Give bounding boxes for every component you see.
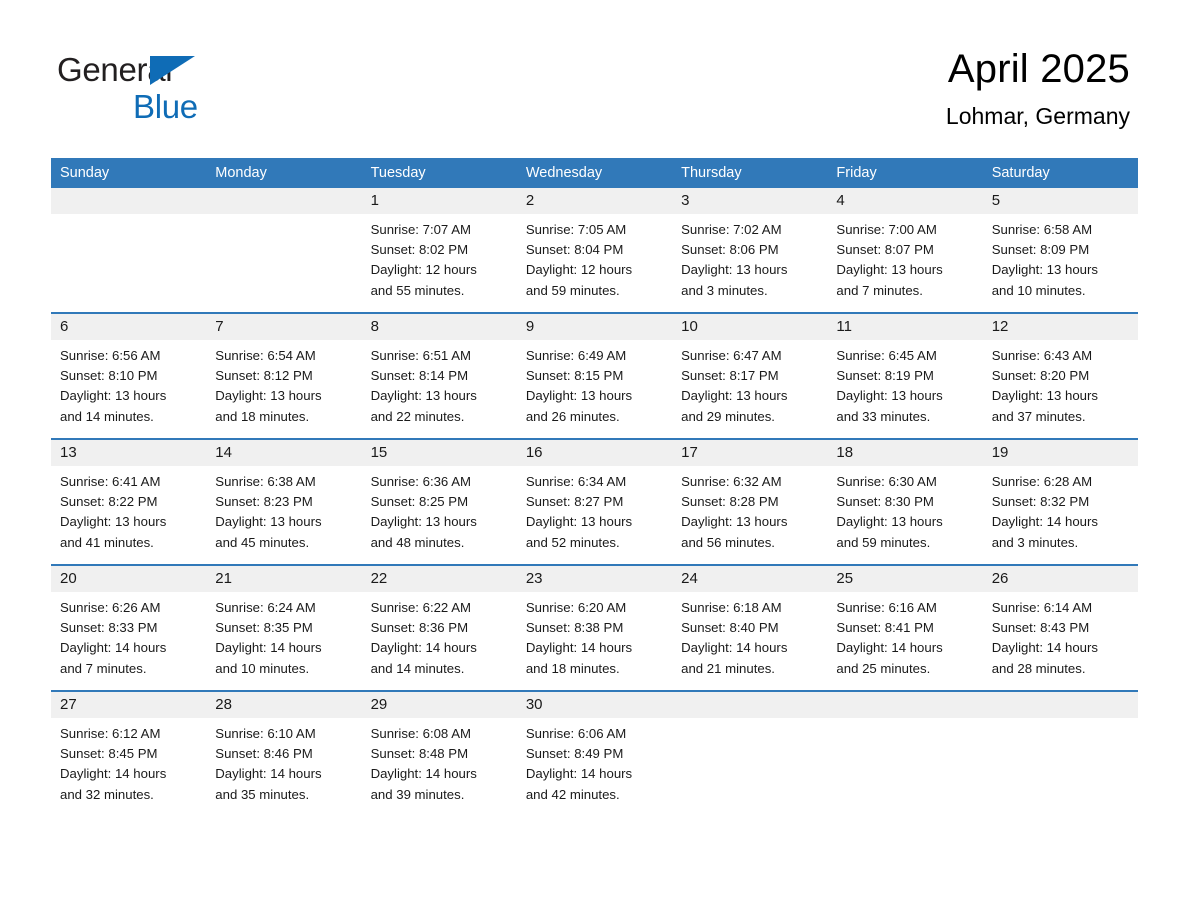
day-detail-line: Sunrise: 7:07 AM [371,220,508,240]
day-detail-line: Daylight: 13 hours [681,512,818,532]
day-detail-line: and 18 minutes. [215,407,352,427]
week-cells: 27Sunrise: 6:12 AMSunset: 8:45 PMDayligh… [51,692,1138,816]
day-details [51,214,206,312]
day-cell-10[interactable]: 10Sunrise: 6:47 AMSunset: 8:17 PMDayligh… [672,314,827,438]
day-details: Sunrise: 6:30 AMSunset: 8:30 PMDaylight:… [827,466,982,564]
day-details: Sunrise: 6:06 AMSunset: 8:49 PMDaylight:… [517,718,672,816]
day-number: 14 [206,440,361,466]
day-number-band: 10 [672,314,827,340]
day-number-band: 19 [983,440,1138,466]
week-cells: 13Sunrise: 6:41 AMSunset: 8:22 PMDayligh… [51,440,1138,564]
day-detail-line: Sunset: 8:12 PM [215,366,352,386]
day-detail-line: and 45 minutes. [215,533,352,553]
day-detail-line: Daylight: 14 hours [215,638,352,658]
day-number-band [51,188,206,214]
day-number-band: 8 [362,314,517,340]
day-cell-6[interactable]: 6Sunrise: 6:56 AMSunset: 8:10 PMDaylight… [51,314,206,438]
day-cell-18[interactable]: 18Sunrise: 6:30 AMSunset: 8:30 PMDayligh… [827,440,982,564]
day-number: 29 [362,692,517,718]
day-detail-line: Sunrise: 6:12 AM [60,724,197,744]
day-detail-line: and 26 minutes. [526,407,663,427]
weekday-header-monday: Monday [206,158,361,188]
day-cell-27[interactable]: 27Sunrise: 6:12 AMSunset: 8:45 PMDayligh… [51,692,206,816]
day-detail-line: Sunrise: 6:08 AM [371,724,508,744]
day-cell-28[interactable]: 28Sunrise: 6:10 AMSunset: 8:46 PMDayligh… [206,692,361,816]
day-detail-line: Sunset: 8:10 PM [60,366,197,386]
day-detail-line: Daylight: 13 hours [60,512,197,532]
day-detail-line: Sunset: 8:45 PM [60,744,197,764]
day-detail-line: Sunrise: 6:28 AM [992,472,1129,492]
day-number: 30 [517,692,672,718]
day-number-band [827,692,982,718]
day-number-band: 11 [827,314,982,340]
day-detail-line: and 7 minutes. [836,281,973,301]
day-number-band: 16 [517,440,672,466]
day-number: 20 [51,566,206,592]
day-detail-line: Sunrise: 6:18 AM [681,598,818,618]
day-detail-line: Daylight: 13 hours [215,386,352,406]
day-detail-line: Daylight: 12 hours [371,260,508,280]
day-details [983,718,1138,816]
day-number-band: 25 [827,566,982,592]
page-header: General Blue April 2025 Lohmar, Germany [0,0,1188,150]
day-detail-line: and 25 minutes. [836,659,973,679]
day-number-band: 3 [672,188,827,214]
day-detail-line: and 59 minutes. [836,533,973,553]
day-number: 13 [51,440,206,466]
day-detail-line: Sunset: 8:14 PM [371,366,508,386]
day-details: Sunrise: 6:36 AMSunset: 8:25 PMDaylight:… [362,466,517,564]
day-detail-line: Daylight: 14 hours [526,638,663,658]
day-detail-line: Daylight: 13 hours [836,512,973,532]
day-detail-line: Sunset: 8:27 PM [526,492,663,512]
day-details: Sunrise: 6:38 AMSunset: 8:23 PMDaylight:… [206,466,361,564]
day-details: Sunrise: 6:08 AMSunset: 8:48 PMDaylight:… [362,718,517,816]
day-detail-line: Daylight: 13 hours [215,512,352,532]
day-number: 28 [206,692,361,718]
day-cell-11[interactable]: 11Sunrise: 6:45 AMSunset: 8:19 PMDayligh… [827,314,982,438]
day-detail-line: Sunrise: 7:02 AM [681,220,818,240]
day-number: 1 [362,188,517,214]
day-details: Sunrise: 6:32 AMSunset: 8:28 PMDaylight:… [672,466,827,564]
weekday-header-wednesday: Wednesday [517,158,672,188]
day-number-band: 22 [362,566,517,592]
day-details: Sunrise: 7:07 AMSunset: 8:02 PMDaylight:… [362,214,517,312]
day-detail-line: Sunset: 8:02 PM [371,240,508,260]
day-cell-3[interactable]: 3Sunrise: 7:02 AMSunset: 8:06 PMDaylight… [672,188,827,312]
day-detail-line: Daylight: 13 hours [371,512,508,532]
day-details: Sunrise: 6:58 AMSunset: 8:09 PMDaylight:… [983,214,1138,312]
day-detail-line: Sunrise: 6:47 AM [681,346,818,366]
day-detail-line: Sunrise: 7:05 AM [526,220,663,240]
day-detail-line: and 22 minutes. [371,407,508,427]
day-detail-line: Sunrise: 6:14 AM [992,598,1129,618]
day-number-band: 30 [517,692,672,718]
day-detail-line: and 42 minutes. [526,785,663,805]
day-detail-line: Sunset: 8:48 PM [371,744,508,764]
day-detail-line: Daylight: 14 hours [836,638,973,658]
week-cells: 1Sunrise: 7:07 AMSunset: 8:02 PMDaylight… [51,188,1138,312]
day-detail-line: Daylight: 14 hours [992,638,1129,658]
day-number: 15 [362,440,517,466]
day-cell-17[interactable]: 17Sunrise: 6:32 AMSunset: 8:28 PMDayligh… [672,440,827,564]
day-cell-1[interactable]: 1Sunrise: 7:07 AMSunset: 8:02 PMDaylight… [362,188,517,312]
day-detail-line: Sunset: 8:41 PM [836,618,973,638]
calendar-week-row: 13Sunrise: 6:41 AMSunset: 8:22 PMDayligh… [51,438,1138,564]
day-detail-line: Sunrise: 6:22 AM [371,598,508,618]
day-cell-19[interactable]: 19Sunrise: 6:28 AMSunset: 8:32 PMDayligh… [983,440,1138,564]
day-detail-line: and 14 minutes. [60,407,197,427]
day-detail-line: Daylight: 13 hours [526,512,663,532]
day-detail-line: and 33 minutes. [836,407,973,427]
day-cell-13[interactable]: 13Sunrise: 6:41 AMSunset: 8:22 PMDayligh… [51,440,206,564]
day-detail-line: and 48 minutes. [371,533,508,553]
day-number-band [983,692,1138,718]
day-details: Sunrise: 6:51 AMSunset: 8:14 PMDaylight:… [362,340,517,438]
day-number: 18 [827,440,982,466]
day-detail-line: Sunrise: 6:43 AM [992,346,1129,366]
day-number: 19 [983,440,1138,466]
day-detail-line: Sunset: 8:07 PM [836,240,973,260]
day-detail-line: Sunrise: 6:45 AM [836,346,973,366]
weekday-header-thursday: Thursday [672,158,827,188]
day-details [672,718,827,816]
day-detail-line: Daylight: 13 hours [992,386,1129,406]
day-detail-line: and 14 minutes. [371,659,508,679]
day-detail-line: and 29 minutes. [681,407,818,427]
day-number-band: 2 [517,188,672,214]
day-details: Sunrise: 7:00 AMSunset: 8:07 PMDaylight:… [827,214,982,312]
brand-name-blue: Blue [133,87,198,127]
day-detail-line: Sunset: 8:15 PM [526,366,663,386]
day-cell-empty [206,188,361,312]
day-detail-line: Sunset: 8:36 PM [371,618,508,638]
day-number-band: 18 [827,440,982,466]
day-detail-line: and 32 minutes. [60,785,197,805]
day-detail-line: Sunrise: 6:38 AM [215,472,352,492]
day-cell-20[interactable]: 20Sunrise: 6:26 AMSunset: 8:33 PMDayligh… [51,566,206,690]
day-number-band [206,188,361,214]
day-detail-line: Daylight: 13 hours [992,260,1129,280]
day-cell-7[interactable]: 7Sunrise: 6:54 AMSunset: 8:12 PMDaylight… [206,314,361,438]
day-details: Sunrise: 7:02 AMSunset: 8:06 PMDaylight:… [672,214,827,312]
day-number-band: 29 [362,692,517,718]
calendar-week-row: 6Sunrise: 6:56 AMSunset: 8:10 PMDaylight… [51,312,1138,438]
day-detail-line: Sunset: 8:25 PM [371,492,508,512]
day-cell-empty [983,692,1138,816]
day-detail-line: Sunset: 8:06 PM [681,240,818,260]
day-cell-9[interactable]: 9Sunrise: 6:49 AMSunset: 8:15 PMDaylight… [517,314,672,438]
day-detail-line: Sunset: 8:30 PM [836,492,973,512]
day-detail-line: Sunrise: 6:54 AM [215,346,352,366]
day-detail-line: Sunset: 8:32 PM [992,492,1129,512]
day-number: 2 [517,188,672,214]
calendar-page: General Blue April 2025 Lohmar, Germany … [0,0,1188,918]
calendar-week-row: 20Sunrise: 6:26 AMSunset: 8:33 PMDayligh… [51,564,1138,690]
day-detail-line: and 56 minutes. [681,533,818,553]
weekday-header-saturday: Saturday [983,158,1138,188]
day-details: Sunrise: 6:24 AMSunset: 8:35 PMDaylight:… [206,592,361,690]
day-cell-25[interactable]: 25Sunrise: 6:16 AMSunset: 8:41 PMDayligh… [827,566,982,690]
day-details: Sunrise: 6:16 AMSunset: 8:41 PMDaylight:… [827,592,982,690]
day-detail-line: Sunrise: 6:06 AM [526,724,663,744]
calendar-grid: SundayMondayTuesdayWednesdayThursdayFrid… [51,158,1138,816]
day-detail-line: Sunset: 8:17 PM [681,366,818,386]
day-number-band: 13 [51,440,206,466]
day-number: 10 [672,314,827,340]
day-detail-line: and 55 minutes. [371,281,508,301]
day-number: 4 [827,188,982,214]
day-details: Sunrise: 6:10 AMSunset: 8:46 PMDaylight:… [206,718,361,816]
day-number-band: 17 [672,440,827,466]
day-details: Sunrise: 6:49 AMSunset: 8:15 PMDaylight:… [517,340,672,438]
day-detail-line: Sunset: 8:22 PM [60,492,197,512]
day-number: 12 [983,314,1138,340]
day-number-band: 6 [51,314,206,340]
day-detail-line: and 3 minutes. [992,533,1129,553]
day-cell-23[interactable]: 23Sunrise: 6:20 AMSunset: 8:38 PMDayligh… [517,566,672,690]
day-detail-line: and 37 minutes. [992,407,1129,427]
day-detail-line: Sunrise: 6:49 AM [526,346,663,366]
day-detail-line: Daylight: 13 hours [60,386,197,406]
day-cell-30[interactable]: 30Sunrise: 6:06 AMSunset: 8:49 PMDayligh… [517,692,672,816]
day-detail-line: Daylight: 14 hours [371,764,508,784]
day-number-band: 27 [51,692,206,718]
day-detail-line: Daylight: 13 hours [836,260,973,280]
day-detail-line: Sunrise: 6:34 AM [526,472,663,492]
day-detail-line: Daylight: 13 hours [681,260,818,280]
triangle-icon [150,56,195,85]
day-details: Sunrise: 6:26 AMSunset: 8:33 PMDaylight:… [51,592,206,690]
title-block: April 2025 Lohmar, Germany [946,44,1130,132]
day-number-band: 9 [517,314,672,340]
day-details [827,718,982,816]
day-cell-12[interactable]: 12Sunrise: 6:43 AMSunset: 8:20 PMDayligh… [983,314,1138,438]
day-detail-line: Daylight: 14 hours [681,638,818,658]
day-detail-line: Daylight: 13 hours [371,386,508,406]
day-cell-29[interactable]: 29Sunrise: 6:08 AMSunset: 8:48 PMDayligh… [362,692,517,816]
day-detail-line: and 39 minutes. [371,785,508,805]
day-number: 5 [983,188,1138,214]
day-details: Sunrise: 6:54 AMSunset: 8:12 PMDaylight:… [206,340,361,438]
day-number-band: 7 [206,314,361,340]
day-number-band: 20 [51,566,206,592]
day-detail-line: and 3 minutes. [681,281,818,301]
day-detail-line: Daylight: 13 hours [836,386,973,406]
day-details: Sunrise: 6:56 AMSunset: 8:10 PMDaylight:… [51,340,206,438]
day-number: 7 [206,314,361,340]
day-details: Sunrise: 6:47 AMSunset: 8:17 PMDaylight:… [672,340,827,438]
day-detail-line: Sunrise: 6:32 AM [681,472,818,492]
day-detail-line: Daylight: 12 hours [526,260,663,280]
day-number: 6 [51,314,206,340]
day-number: 3 [672,188,827,214]
day-detail-line: Sunrise: 6:41 AM [60,472,197,492]
day-detail-line: and 28 minutes. [992,659,1129,679]
day-detail-line: Sunset: 8:19 PM [836,366,973,386]
day-cell-14[interactable]: 14Sunrise: 6:38 AMSunset: 8:23 PMDayligh… [206,440,361,564]
day-detail-line: Sunrise: 6:30 AM [836,472,973,492]
day-number: 8 [362,314,517,340]
week-cells: 6Sunrise: 6:56 AMSunset: 8:10 PMDaylight… [51,314,1138,438]
day-cell-21[interactable]: 21Sunrise: 6:24 AMSunset: 8:35 PMDayligh… [206,566,361,690]
day-detail-line: Sunset: 8:40 PM [681,618,818,638]
day-detail-line: Sunset: 8:04 PM [526,240,663,260]
day-detail-line: Sunset: 8:49 PM [526,744,663,764]
day-number-band: 15 [362,440,517,466]
day-detail-line: and 7 minutes. [60,659,197,679]
day-detail-line: and 21 minutes. [681,659,818,679]
weekday-header-row: SundayMondayTuesdayWednesdayThursdayFrid… [51,158,1138,188]
calendar-week-row: 27Sunrise: 6:12 AMSunset: 8:45 PMDayligh… [51,690,1138,816]
day-detail-line: and 18 minutes. [526,659,663,679]
location-subtitle: Lohmar, Germany [946,100,1130,132]
day-detail-line: and 35 minutes. [215,785,352,805]
day-cell-empty [51,188,206,312]
day-number-band: 12 [983,314,1138,340]
day-detail-line: Sunset: 8:20 PM [992,366,1129,386]
day-detail-line: Sunrise: 6:20 AM [526,598,663,618]
day-detail-line: Sunset: 8:09 PM [992,240,1129,260]
day-number: 22 [362,566,517,592]
calendar-weeks: 1Sunrise: 7:07 AMSunset: 8:02 PMDaylight… [51,188,1138,816]
day-number-band [672,692,827,718]
day-detail-line: Sunset: 8:38 PM [526,618,663,638]
day-number: 9 [517,314,672,340]
day-number-band: 4 [827,188,982,214]
day-details: Sunrise: 6:45 AMSunset: 8:19 PMDaylight:… [827,340,982,438]
day-detail-line: Sunrise: 6:36 AM [371,472,508,492]
general-blue-logo[interactable]: General Blue [57,50,317,130]
day-detail-line: and 59 minutes. [526,281,663,301]
day-detail-line: Daylight: 13 hours [526,386,663,406]
day-detail-line: Sunset: 8:33 PM [60,618,197,638]
weekday-header-friday: Friday [827,158,982,188]
day-details: Sunrise: 7:05 AMSunset: 8:04 PMDaylight:… [517,214,672,312]
day-number-band: 21 [206,566,361,592]
day-number-band: 24 [672,566,827,592]
day-cell-5[interactable]: 5Sunrise: 6:58 AMSunset: 8:09 PMDaylight… [983,188,1138,312]
day-number: 16 [517,440,672,466]
day-detail-line: Sunset: 8:23 PM [215,492,352,512]
day-details: Sunrise: 6:20 AMSunset: 8:38 PMDaylight:… [517,592,672,690]
day-details: Sunrise: 6:43 AMSunset: 8:20 PMDaylight:… [983,340,1138,438]
day-number: 23 [517,566,672,592]
day-number: 21 [206,566,361,592]
day-detail-line: Sunrise: 6:56 AM [60,346,197,366]
day-number-band: 14 [206,440,361,466]
week-cells: 20Sunrise: 6:26 AMSunset: 8:33 PMDayligh… [51,566,1138,690]
day-detail-line: and 52 minutes. [526,533,663,553]
day-details [206,214,361,312]
day-cell-22[interactable]: 22Sunrise: 6:22 AMSunset: 8:36 PMDayligh… [362,566,517,690]
day-detail-line: Daylight: 14 hours [526,764,663,784]
day-details: Sunrise: 6:22 AMSunset: 8:36 PMDaylight:… [362,592,517,690]
day-details: Sunrise: 6:14 AMSunset: 8:43 PMDaylight:… [983,592,1138,690]
day-details: Sunrise: 6:18 AMSunset: 8:40 PMDaylight:… [672,592,827,690]
day-detail-line: Daylight: 13 hours [681,386,818,406]
day-detail-line: Sunset: 8:46 PM [215,744,352,764]
day-number: 25 [827,566,982,592]
day-detail-line: Sunset: 8:43 PM [992,618,1129,638]
day-cell-26[interactable]: 26Sunrise: 6:14 AMSunset: 8:43 PMDayligh… [983,566,1138,690]
day-detail-line: Daylight: 14 hours [60,638,197,658]
weekday-header-sunday: Sunday [51,158,206,188]
day-number-band: 26 [983,566,1138,592]
day-detail-line: Daylight: 14 hours [215,764,352,784]
day-detail-line: Daylight: 14 hours [60,764,197,784]
day-cell-8[interactable]: 8Sunrise: 6:51 AMSunset: 8:14 PMDaylight… [362,314,517,438]
day-detail-line: Sunrise: 6:16 AM [836,598,973,618]
day-details: Sunrise: 6:34 AMSunset: 8:27 PMDaylight:… [517,466,672,564]
page-title: April 2025 [946,44,1130,94]
day-details: Sunrise: 6:41 AMSunset: 8:22 PMDaylight:… [51,466,206,564]
day-number-band: 1 [362,188,517,214]
day-detail-line: Sunrise: 6:51 AM [371,346,508,366]
day-number-band: 5 [983,188,1138,214]
day-detail-line: Sunrise: 7:00 AM [836,220,973,240]
day-detail-line: Sunrise: 6:10 AM [215,724,352,744]
day-detail-line: Sunset: 8:35 PM [215,618,352,638]
day-cell-16[interactable]: 16Sunrise: 6:34 AMSunset: 8:27 PMDayligh… [517,440,672,564]
day-detail-line: and 10 minutes. [215,659,352,679]
day-details: Sunrise: 6:28 AMSunset: 8:32 PMDaylight:… [983,466,1138,564]
day-detail-line: Daylight: 14 hours [992,512,1129,532]
day-number: 26 [983,566,1138,592]
day-cell-2[interactable]: 2Sunrise: 7:05 AMSunset: 8:04 PMDaylight… [517,188,672,312]
day-number: 11 [827,314,982,340]
day-detail-line: Sunset: 8:28 PM [681,492,818,512]
day-cell-4[interactable]: 4Sunrise: 7:00 AMSunset: 8:07 PMDaylight… [827,188,982,312]
weekday-header-tuesday: Tuesday [362,158,517,188]
day-detail-line: Sunrise: 6:58 AM [992,220,1129,240]
day-number-band: 28 [206,692,361,718]
day-details: Sunrise: 6:12 AMSunset: 8:45 PMDaylight:… [51,718,206,816]
day-cell-15[interactable]: 15Sunrise: 6:36 AMSunset: 8:25 PMDayligh… [362,440,517,564]
day-detail-line: and 10 minutes. [992,281,1129,301]
day-detail-line: Sunrise: 6:26 AM [60,598,197,618]
day-number: 27 [51,692,206,718]
day-number: 17 [672,440,827,466]
day-detail-line: Daylight: 14 hours [371,638,508,658]
day-number: 24 [672,566,827,592]
day-detail-line: Sunrise: 6:24 AM [215,598,352,618]
day-cell-empty [827,692,982,816]
day-number-band: 23 [517,566,672,592]
calendar-week-row: 1Sunrise: 7:07 AMSunset: 8:02 PMDaylight… [51,188,1138,312]
day-cell-24[interactable]: 24Sunrise: 6:18 AMSunset: 8:40 PMDayligh… [672,566,827,690]
day-detail-line: and 41 minutes. [60,533,197,553]
day-cell-empty [672,692,827,816]
